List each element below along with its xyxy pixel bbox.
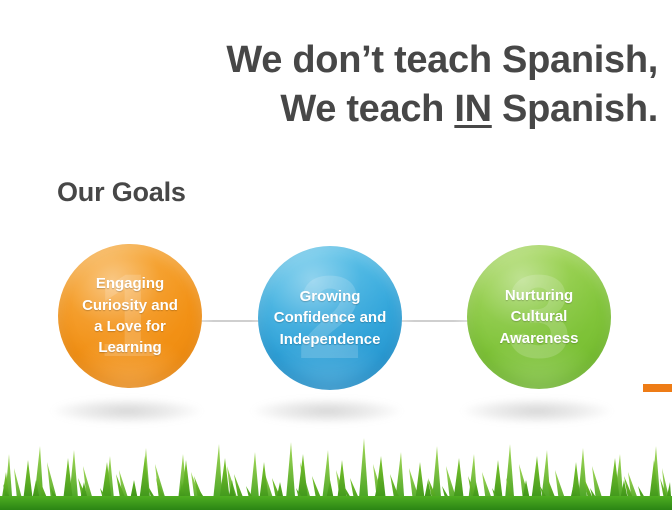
slide-title: We don’t teach Spanish, We teach IN Span… [150, 36, 658, 133]
goal-three-label: Nurturing Cultural Awareness [467, 285, 611, 349]
accent-bar [643, 384, 672, 392]
title-line-2-before: We teach [280, 88, 454, 130]
title-line-1: We don’t teach Spanish, [150, 36, 658, 85]
grass-illustration [0, 424, 672, 510]
circle-shadow-one [52, 398, 202, 424]
section-heading-our-goals: Our Goals [57, 177, 186, 208]
title-line-2-after: Spanish. [492, 88, 658, 130]
title-line-2: We teach IN Spanish. [150, 85, 658, 134]
goal-circle-two: 2 Growing Confidence and Independence [258, 246, 402, 390]
grass-base [0, 496, 672, 510]
presentation-slide: We don’t teach Spanish, We teach IN Span… [0, 0, 672, 510]
goal-one-label: Engaging Curiosity and a Love for Learni… [58, 273, 202, 358]
title-emphasis-in: IN [454, 88, 491, 130]
goal-circle-one: 1 Engaging Curiosity and a Love for Lear… [58, 244, 202, 388]
goal-circle-three: 3 Nurturing Cultural Awareness [467, 245, 611, 389]
circle-shadow-three [462, 398, 612, 424]
circle-shadow-two [252, 398, 402, 424]
goal-two-label: Growing Confidence and Independence [258, 286, 402, 350]
